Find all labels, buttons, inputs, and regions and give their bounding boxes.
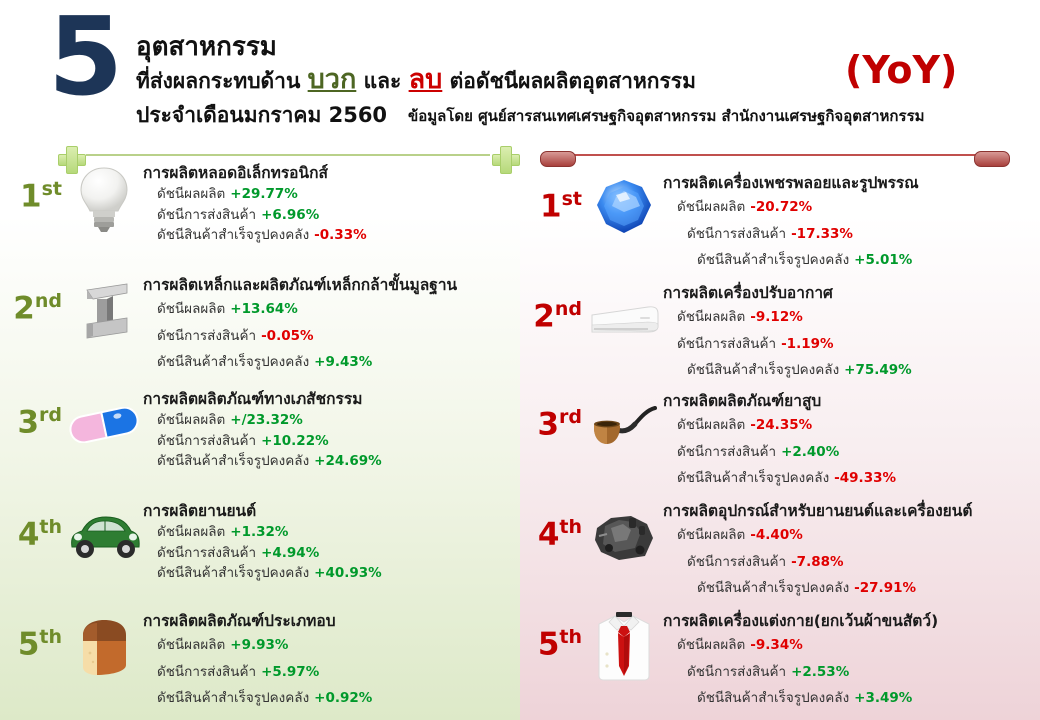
rank-badge: 5th <box>520 610 585 660</box>
metric-value: -9.34% <box>750 637 802 653</box>
item-body: การผลิตผลิตภัณฑ์ทางเภสัชกรรม ดัชนีผลผลิต… <box>143 388 520 471</box>
item-title: การผลิตผลิตภัณฑ์ประเภทอบ <box>143 612 520 631</box>
metric-label: ดัชนีการส่งสินค้า <box>157 328 256 344</box>
metric-inventory: ดัชนีสินค้าสำเร็จรูปคงคลัง-27.91% <box>663 575 1040 601</box>
metric-label: ดัชนีการส่งสินค้า <box>687 554 786 570</box>
metric-value: +4.94% <box>261 545 319 561</box>
rank-badge: 3rd <box>520 390 585 440</box>
metric-value: +2.40% <box>781 444 839 460</box>
metric-inventory: ดัชนีสินค้าสำเร็จรูปคงคลัง+40.93% <box>143 563 520 583</box>
metric-value: -20.72% <box>750 199 812 215</box>
metric-label: ดัชนีสินค้าสำเร็จรูปคงคลัง <box>157 453 309 469</box>
metric-production: ดัชนีผลผลิต-9.34% <box>663 632 1040 658</box>
metric-value: +0.92% <box>314 690 372 706</box>
metric-shipment: ดัชนีการส่งสินค้า+2.53% <box>663 659 1040 685</box>
metric-label: ดัชนีผลผลิต <box>157 524 225 540</box>
metric-production: ดัชนีผลผลิต+/23.32% <box>143 410 520 430</box>
metric-label: ดัชนีการส่งสินค้า <box>157 545 256 561</box>
item-title: การผลิตผลิตภัณฑ์ยาสูบ <box>663 392 1040 411</box>
metric-label: ดัชนีผลผลิต <box>677 527 745 543</box>
metric-inventory: ดัชนีสินค้าสำเร็จรูปคงคลัง+9.43% <box>143 349 520 375</box>
rank-badge: 3rd <box>0 388 65 438</box>
metric-value: +75.49% <box>844 362 912 378</box>
metric-shipment: ดัชนีการส่งสินค้า+10.22% <box>143 431 520 451</box>
metric-label: ดัชนีการส่งสินค้า <box>687 664 786 680</box>
metric-inventory: ดัชนีสินค้าสำเร็จรูปคงคลัง+0.92% <box>143 685 520 711</box>
metric-inventory: ดัชนีสินค้าสำเร็จรูปคงคลัง+5.01% <box>663 247 1040 273</box>
metric-label: ดัชนีสินค้าสำเร็จรูปคงคลัง <box>677 470 829 486</box>
metric-label: ดัชนีสินค้าสำเร็จรูปคงคลัง <box>157 354 309 370</box>
metric-value: +29.77% <box>230 186 298 202</box>
metric-label: ดัชนีการส่งสินค้า <box>157 664 256 680</box>
metric-value: +24.69% <box>314 453 382 469</box>
metric-value: -24.35% <box>750 417 812 433</box>
metric-production: ดัชนีผลผลิต+13.64% <box>143 296 520 322</box>
divider-right-rule <box>566 154 984 156</box>
metric-value: -27.91% <box>854 580 916 596</box>
metric-value: +6.96% <box>261 207 319 223</box>
car-icon <box>65 500 143 574</box>
item-title: การผลิตเครื่องแต่งกาย(ยกเว้นผ้าขนสัตว์) <box>663 612 1040 631</box>
rank-badge: 5th <box>0 610 65 660</box>
metric-label: ดัชนีสินค้าสำเร็จรูปคงคลัง <box>157 565 309 581</box>
list-item: 2nd การผลิตเครื่องปรับอากาศ ดัชนีผลผลิต-… <box>520 282 1040 383</box>
positive-impact-column: 1st การผลิตหลอดอิเล็กทรอนิกส์ ดัชนีผลผลิ… <box>0 162 520 720</box>
list-item: 4th การผลิตอุปกรณ์สำหรับยานยนต์และเครื่อ… <box>520 500 1040 601</box>
header-subtitle-suffix: ต่อดัชนีผลผลิตอุตสาหกรรม <box>450 69 696 93</box>
metric-shipment: ดัชนีการส่งสินค้า-17.33% <box>663 221 1040 247</box>
metric-production: ดัชนีผลผลิต-4.40% <box>663 522 1040 548</box>
metric-label: ดัชนีผลผลิต <box>157 412 225 428</box>
item-title: การผลิตเครื่องเพชรพลอยและรูปพรรณ <box>663 174 1040 193</box>
list-item: 5th การผลิตผลิตภัณฑ์ประเภทอบ ดัชนีผลผลิต… <box>0 610 520 711</box>
metric-shipment: ดัชนีการส่งสินค้า+4.94% <box>143 543 520 563</box>
header-subtitle: ที่ส่งผลกระทบด้าน บวก และ ลบ ต่อดัชนีผลผ… <box>136 57 696 100</box>
header-positive-word: บวก <box>308 64 357 95</box>
metric-value: +5.97% <box>261 664 319 680</box>
bread-loaf-icon <box>65 610 143 684</box>
metric-production: ดัชนีผลผลิต-9.12% <box>663 304 1040 330</box>
rank-badge: 2nd <box>520 282 585 332</box>
metric-label: ดัชนีสินค้าสำเร็จรูปคงคลัง <box>697 580 849 596</box>
metric-shipment: ดัชนีการส่งสินค้า-7.88% <box>663 549 1040 575</box>
header-subtitle-prefix: ที่ส่งผลกระทบด้าน <box>136 69 300 93</box>
big-number-5: 5 <box>48 4 121 112</box>
item-body: การผลิตเครื่องปรับอากาศ ดัชนีผลผลิต-9.12… <box>663 282 1040 383</box>
pill-capsule-icon <box>65 388 143 462</box>
metric-shipment: ดัชนีการส่งสินค้า-0.05% <box>143 323 520 349</box>
engine-icon <box>585 500 663 574</box>
metric-label: ดัชนีสินค้าสำเร็จรูปคงคลัง <box>697 690 849 706</box>
item-title: การผลิตยานยนต์ <box>143 502 520 521</box>
item-title: การผลิตเครื่องปรับอากาศ <box>663 284 1040 303</box>
list-item: 1st การผลิตเครื่องเพชรพลอยและรูปพรรณ ดัช… <box>520 172 1040 273</box>
item-body: การผลิตเครื่องแต่งกาย(ยกเว้นผ้าขนสัตว์) … <box>663 610 1040 711</box>
metric-label: ดัชนีผลผลิต <box>677 199 745 215</box>
metric-value: -17.33% <box>791 226 853 242</box>
metric-value: -0.05% <box>261 328 313 344</box>
metric-production: ดัชนีผลผลิต+1.32% <box>143 522 520 542</box>
divider-left-rule <box>86 154 490 156</box>
metric-label: ดัชนีสินค้าสำเร็จรูปคงคลัง <box>157 227 309 243</box>
rank-badge: 1st <box>0 162 65 212</box>
metric-label: ดัชนีสินค้าสำเร็จรูปคงคลัง <box>697 252 849 268</box>
metric-shipment: ดัชนีการส่งสินค้า+2.40% <box>663 439 1040 465</box>
metric-value: +5.01% <box>854 252 912 268</box>
yoy-label: (YoY) <box>845 48 957 92</box>
metric-label: ดัชนีผลผลิต <box>157 186 225 202</box>
item-body: การผลิตเหล็กและผลิตภัณฑ์เหล็กกล้าขั้นมูล… <box>143 274 520 375</box>
item-title: การผลิตเหล็กและผลิตภัณฑ์เหล็กกล้าขั้นมูล… <box>143 276 520 295</box>
item-body: การผลิตเครื่องเพชรพลอยและรูปพรรณ ดัชนีผล… <box>663 172 1040 273</box>
metric-value: -49.33% <box>834 470 896 486</box>
metric-shipment: ดัชนีการส่งสินค้า+5.97% <box>143 659 520 685</box>
metric-inventory: ดัชนีสินค้าสำเร็จรูปคงคลัง+3.49% <box>663 685 1040 711</box>
metric-label: ดัชนีผลผลิต <box>677 637 745 653</box>
steel-beam-icon <box>65 274 143 348</box>
metric-label: ดัชนีการส่งสินค้า <box>687 226 786 242</box>
metric-value: -7.88% <box>791 554 843 570</box>
lightbulb-icon <box>65 162 143 236</box>
header-source-credit: ข้อมูลโดย ศูนย์สารสนเทศเศรษฐกิจอุตสาหกรร… <box>408 104 925 128</box>
item-body: การผลิตยานยนต์ ดัชนีผลผลิต+1.32% ดัชนีกา… <box>143 500 520 583</box>
metric-value: +10.22% <box>261 433 329 449</box>
metric-inventory: ดัชนีสินค้าสำเร็จรูปคงคลัง+24.69% <box>143 451 520 471</box>
metric-value: -1.19% <box>781 336 833 352</box>
metric-label: ดัชนีผลผลิต <box>157 637 225 653</box>
metric-production: ดัชนีผลผลิต+9.93% <box>143 632 520 658</box>
header-period: ประจำเดือนมกราคม 2560 <box>136 99 387 132</box>
shirt-tie-icon <box>585 610 663 684</box>
metric-label: ดัชนีผลผลิต <box>677 309 745 325</box>
metric-inventory: ดัชนีสินค้าสำเร็จรูปคงคลัง-0.33% <box>143 225 520 245</box>
rank-badge: 1st <box>520 172 585 222</box>
metric-production: ดัชนีผลผลิต-24.35% <box>663 412 1040 438</box>
metric-production: ดัชนีผลผลิต+29.77% <box>143 184 520 204</box>
tobacco-pipe-icon <box>585 390 663 464</box>
metric-value: +2.53% <box>791 664 849 680</box>
item-body: การผลิตอุปกรณ์สำหรับยานยนต์และเครื่องยนต… <box>663 500 1040 601</box>
metric-label: ดัชนีสินค้าสำเร็จรูปคงคลัง <box>157 690 309 706</box>
metric-shipment: ดัชนีการส่งสินค้า-1.19% <box>663 331 1040 357</box>
list-item: 5th การผลิตเครื่องแต่งกาย(ยกเว้นผ้าขนสัต… <box>520 610 1040 711</box>
metric-value: -0.33% <box>314 227 366 243</box>
item-body: การผลิตผลิตภัณฑ์ประเภทอบ ดัชนีผลผลิต+9.9… <box>143 610 520 711</box>
metric-label: ดัชนีการส่งสินค้า <box>677 336 776 352</box>
item-title: การผลิตอุปกรณ์สำหรับยานยนต์และเครื่องยนต… <box>663 502 1040 521</box>
rank-badge: 4th <box>0 500 65 550</box>
metric-value: +9.93% <box>230 637 288 653</box>
metric-shipment: ดัชนีการส่งสินค้า+6.96% <box>143 205 520 225</box>
metric-value: -4.40% <box>750 527 802 543</box>
metric-label: ดัชนีการส่งสินค้า <box>157 207 256 223</box>
item-title: การผลิตผลิตภัณฑ์ทางเภสัชกรรม <box>143 390 520 409</box>
rank-badge: 2nd <box>0 274 65 324</box>
metric-value: +13.64% <box>230 301 298 317</box>
metric-label: ดัชนีผลผลิต <box>157 301 225 317</box>
list-item: 3rd การผลิตผลิตภัณฑ์ทางเภสัชกรรม ดัชนีผล… <box>0 388 520 471</box>
metric-label: ดัชนีผลผลิต <box>677 417 745 433</box>
metric-value: -9.12% <box>750 309 802 325</box>
header-negative-word: ลบ <box>409 64 443 95</box>
negative-impact-column: 1st การผลิตเครื่องเพชรพลอยและรูปพรรณ ดัช… <box>520 162 1040 720</box>
item-title: การผลิตหลอดอิเล็กทรอนิกส์ <box>143 164 520 183</box>
metric-value: +1.32% <box>230 524 288 540</box>
rank-badge: 4th <box>520 500 585 550</box>
metric-label: ดัชนีการส่งสินค้า <box>157 433 256 449</box>
metric-production: ดัชนีผลผลิต-20.72% <box>663 194 1040 220</box>
list-item: 2nd การผลิตเหล็กและผลิตภัณฑ์เหล็กกล้าขั้… <box>0 274 520 375</box>
metric-inventory: ดัชนีสินค้าสำเร็จรูปคงคลัง+75.49% <box>663 357 1040 383</box>
gemstone-icon <box>585 172 663 246</box>
metric-value: +40.93% <box>314 565 382 581</box>
item-body: การผลิตหลอดอิเล็กทรอนิกส์ ดัชนีผลผลิต+29… <box>143 162 520 245</box>
list-item: 4th การผลิตยานยนต์ ดัชนีผลผลิต+1.32% <box>0 500 520 583</box>
metric-value: +9.43% <box>314 354 372 370</box>
header-subtitle-mid: และ <box>364 69 402 93</box>
list-item: 3rd การผลิตผลิตภัณฑ์ยาสูบ ดัชนีผลผลิต-24… <box>520 390 1040 491</box>
air-conditioner-icon <box>585 282 663 356</box>
metric-label: ดัชนีสินค้าสำเร็จรูปคงคลัง <box>687 362 839 378</box>
metric-label: ดัชนีการส่งสินค้า <box>677 444 776 460</box>
list-item: 1st การผลิตหลอดอิเล็กทรอนิกส์ ดัชนีผลผลิ… <box>0 162 520 245</box>
header: 5 อุตสาหกรรม ที่ส่งผลกระทบด้าน บวก และ ล… <box>0 0 1040 132</box>
infographic-page: 5 อุตสาหกรรม ที่ส่งผลกระทบด้าน บวก และ ล… <box>0 0 1040 720</box>
item-body: การผลิตผลิตภัณฑ์ยาสูบ ดัชนีผลผลิต-24.35%… <box>663 390 1040 491</box>
metric-inventory: ดัชนีสินค้าสำเร็จรูปคงคลัง-49.33% <box>663 465 1040 491</box>
metric-value: +3.49% <box>854 690 912 706</box>
metric-value: +/23.32% <box>230 412 302 428</box>
